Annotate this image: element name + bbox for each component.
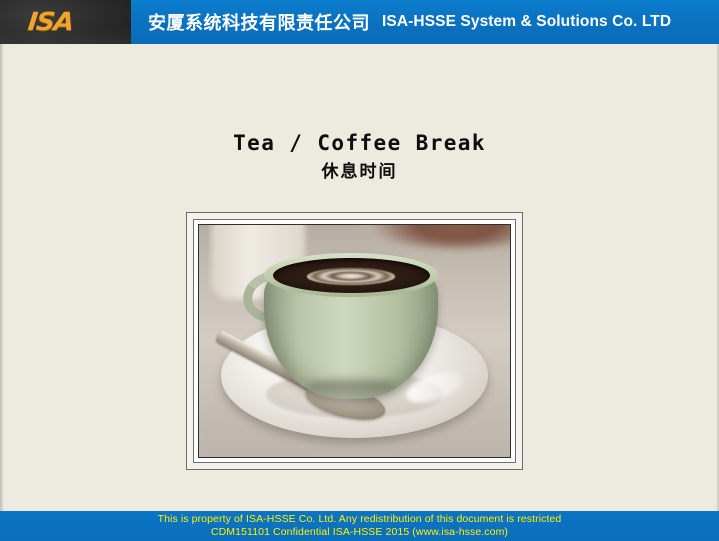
page-edge-left <box>0 44 4 541</box>
footer-document-id-line: CDM151101 Confidential ISA-HSSE 2015 (ww… <box>0 526 719 539</box>
logo-panel: ISA <box>0 0 131 44</box>
company-name-chinese: 安厦系统科技有限责任公司 <box>148 9 370 35</box>
coffee-liquid <box>273 258 430 293</box>
photo-frame <box>186 212 523 470</box>
photo-mat <box>193 219 516 463</box>
slide-canvas: ISA 安厦系统科技有限责任公司 ISA-HSSE System & Solut… <box>0 0 719 541</box>
isa-logo: ISA <box>27 9 74 35</box>
page-subtitle-chinese: 休息时间 <box>0 159 719 185</box>
slide-header: ISA 安厦系统科技有限责任公司 ISA-HSSE System & Solut… <box>0 0 719 44</box>
coffee-photo <box>198 224 511 458</box>
slide-title-block: Tea / Coffee Break 休息时间 <box>0 128 719 185</box>
cup-base-shadow <box>306 379 397 394</box>
page-title: Tea / Coffee Break <box>0 128 719 158</box>
coffee-photo-scene <box>199 225 510 457</box>
header-title-bar: 安厦系统科技有限责任公司 ISA-HSSE System & Solutions… <box>131 0 719 44</box>
footer-copyright-line: This is property of ISA-HSSE Co. Ltd. An… <box>0 513 719 526</box>
slide-footer: This is property of ISA-HSSE Co. Ltd. An… <box>0 511 719 541</box>
cream-swirl <box>307 268 395 285</box>
background-plate <box>361 225 510 248</box>
company-name-english: ISA-HSSE System & Solutions Co. LTD <box>382 13 671 31</box>
